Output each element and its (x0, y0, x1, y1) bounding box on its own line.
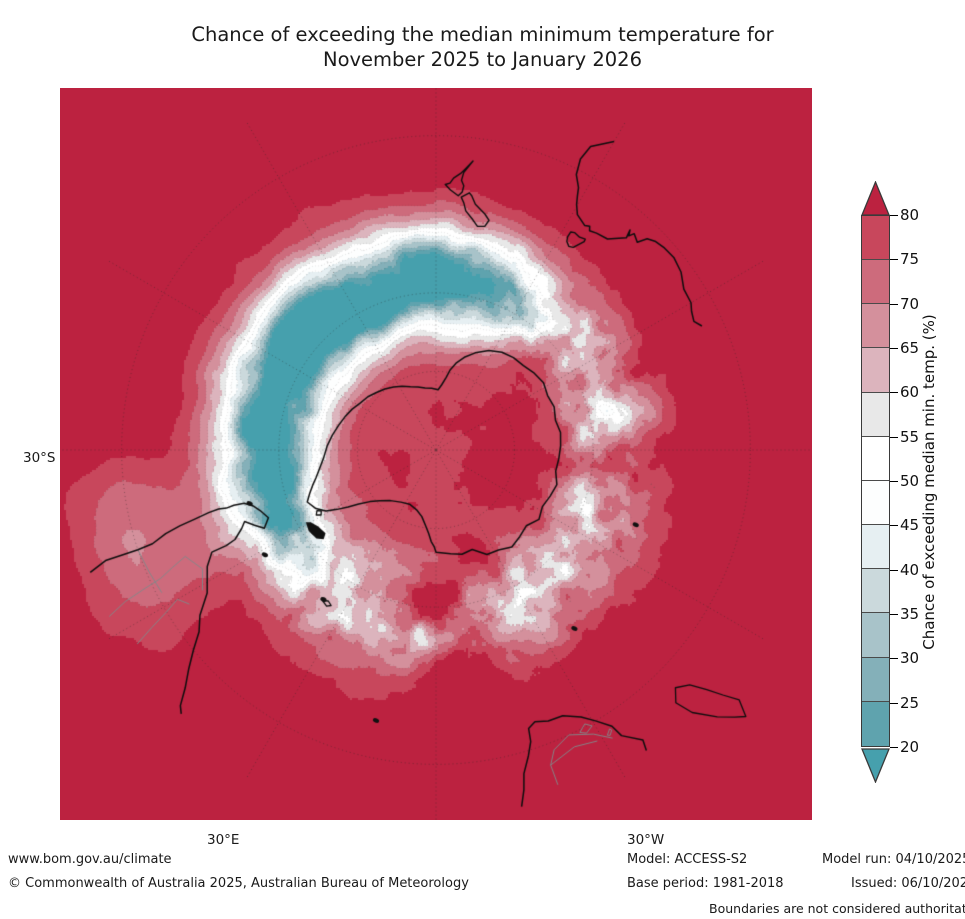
page-title-line-1: Chance of exceeding the median minimum t… (0, 22, 965, 47)
colorbar-tick-mark (890, 392, 898, 393)
colorbar-band (862, 702, 889, 746)
page-title-line-2: November 2025 to January 2026 (0, 47, 965, 72)
colorbar-band (862, 260, 889, 304)
colorbar-tick-mark (890, 658, 898, 659)
colorbar-tick-mark (890, 304, 898, 305)
colorbar-tick-label: 25 (900, 694, 919, 712)
polar-stereographic-map (60, 88, 812, 820)
colorbar-band (862, 569, 889, 613)
colorbar-bands (861, 215, 890, 747)
colorbar-tick-label: 40 (900, 561, 919, 579)
colorbar-band (862, 393, 889, 437)
colorbar-axis-label: Chance of exceeding median min. temp. (%… (920, 314, 938, 649)
colorbar-tick-mark (890, 747, 898, 748)
colorbar-tick-label: 60 (900, 383, 919, 401)
colorbar-band (862, 216, 889, 260)
colorbar-tick-mark (890, 437, 898, 438)
colorbar-tick-label: 80 (900, 206, 919, 224)
colorbar-tick-mark (890, 570, 898, 571)
colorbar-tick-mark (890, 259, 898, 260)
colorbar-tick-label: 45 (900, 516, 919, 534)
colorbar-band (862, 304, 889, 348)
page-title: Chance of exceeding the median minimum t… (0, 22, 965, 72)
colorbar: 80757065605550454035302520 Chance of exc… (856, 183, 965, 781)
colorbar-tick-mark (890, 215, 898, 216)
colorbar-band (862, 481, 889, 525)
colorbar-band (862, 613, 889, 657)
footer-model: Model: ACCESS-S2 (627, 852, 747, 867)
colorbar-tick-label: 20 (900, 738, 919, 756)
colorbar-tick-mark (890, 703, 898, 704)
axis-label-longitude-30e: 30°E (207, 832, 239, 848)
colorbar-tick-label: 75 (900, 250, 919, 268)
colorbar-band (862, 437, 889, 481)
colorbar-tick-label: 70 (900, 295, 919, 313)
colorbar-band (862, 658, 889, 702)
colorbar-tick-label: 65 (900, 339, 919, 357)
colorbar-tick-mark (890, 614, 898, 615)
colorbar-tick-mark (890, 348, 898, 349)
colorbar-tick-mark (890, 525, 898, 526)
footer-website-url[interactable]: www.bom.gov.au/climate (8, 852, 172, 867)
colorbar-tick-label: 50 (900, 472, 919, 490)
footer-base-period: Base period: 1981-2018 (627, 876, 784, 891)
map-raster-probability-field (60, 88, 812, 820)
footer-issued-date: Issued: 06/10/2025 (851, 876, 965, 891)
colorbar-band (862, 525, 889, 569)
footer-boundaries-note: Boundaries are not considered authoritat… (709, 901, 965, 916)
colorbar-tick-label: 35 (900, 605, 919, 623)
footer-model-run: Model run: 04/10/2025 (822, 852, 965, 867)
axis-label-latitude-30s: 30°S (23, 450, 56, 466)
colorbar-tick-mark (890, 481, 898, 482)
colorbar-tick-label: 30 (900, 649, 919, 667)
axis-label-longitude-30w: 30°W (627, 832, 664, 848)
colorbar-tick-label: 55 (900, 428, 919, 446)
colorbar-band (862, 348, 889, 392)
footer-copyright: © Commonwealth of Australia 2025, Austra… (8, 876, 469, 891)
